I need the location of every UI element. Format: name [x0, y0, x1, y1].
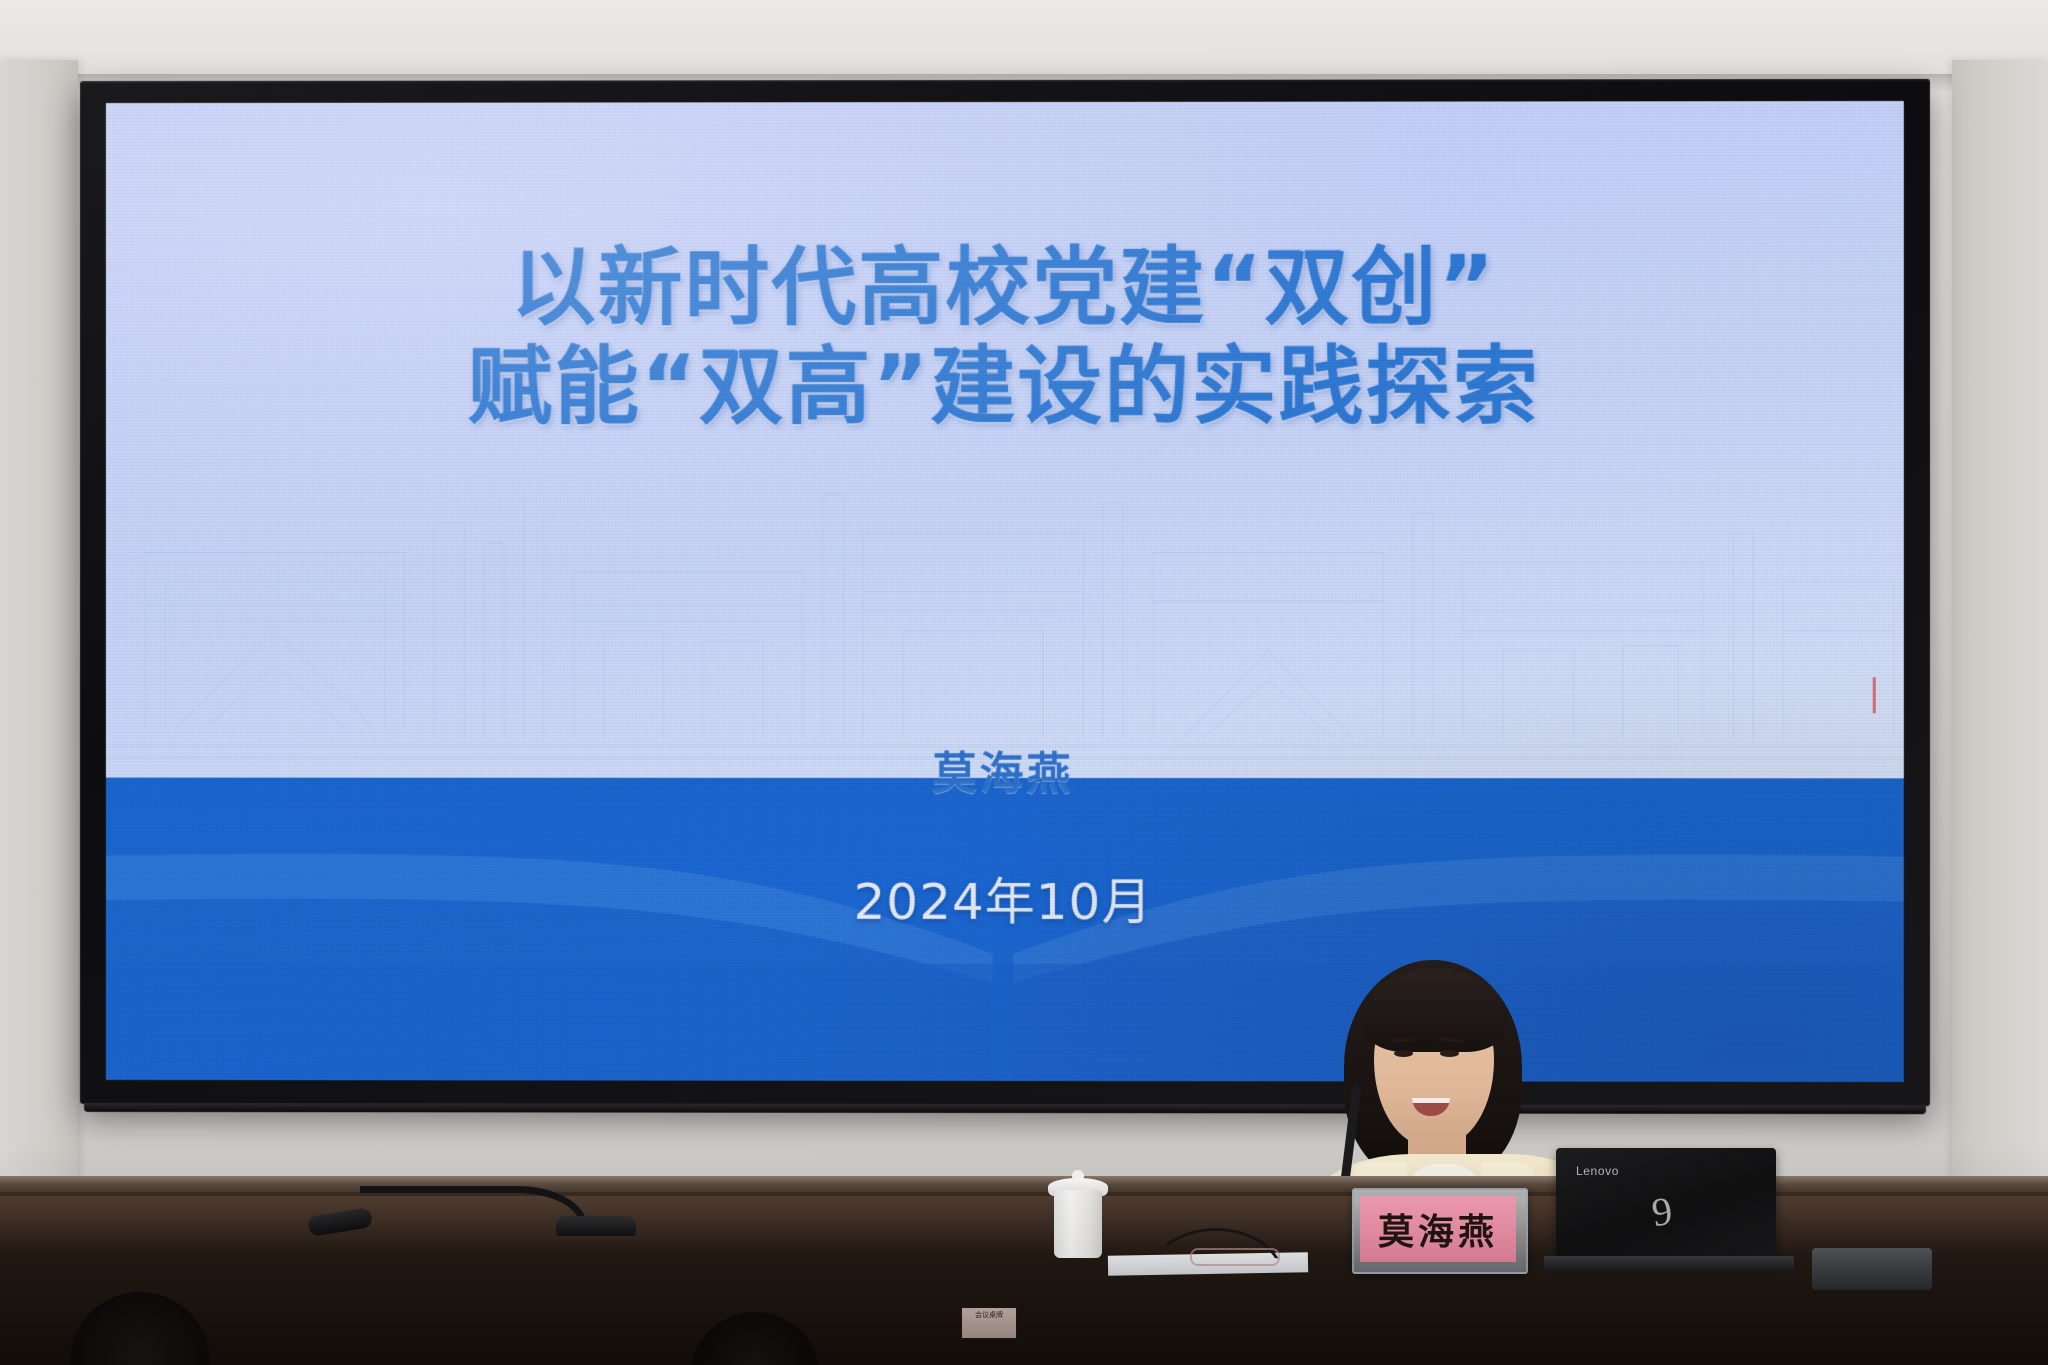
wall-upper-band — [0, 0, 2048, 78]
slide-title-block: 以新时代高校党建“双创” 赋能“双高”建设的实践探索 — [467, 240, 1540, 438]
desk-small-label: 会议桌牌 — [960, 1306, 1018, 1340]
tea-cup — [1054, 1190, 1102, 1258]
slide-date: 2024年10月 — [106, 861, 1904, 934]
gooseneck-microphone — [360, 1186, 590, 1230]
led-display-surface: 以新时代高校党建“双创” 赋能“双高”建设的实践探索 莫海燕 2024年10月 — [106, 101, 1904, 1082]
laptop-brand-label: Lenovo — [1576, 1164, 1619, 1178]
slide-title-line-2: 赋能“双高”建设的实践探索 — [467, 338, 1540, 437]
nameplate-text: 莫海燕 — [1378, 1203, 1498, 1255]
wall-right-pilaster — [1952, 60, 2048, 1180]
presentation-room-photo: 以新时代高校党建“双创” 赋能“双高”建设的实践探索 莫海燕 2024年10月 — [0, 0, 2048, 1365]
slide-title-line-1: 以新时代高校党建“双创” — [467, 240, 1540, 339]
speaker-nameplate: 莫海燕 — [1360, 1196, 1516, 1262]
laptop-base — [1544, 1256, 1794, 1272]
microphone-base — [556, 1216, 636, 1236]
microphone-gooseneck-arm — [360, 1186, 587, 1233]
screen-edge-marker — [1873, 677, 1876, 713]
slide-presenter-name: 莫海燕 — [106, 738, 1904, 803]
led-display-bezel: 以新时代高校党建“双创” 赋能“双高”建设的实践探索 莫海燕 2024年10月 — [80, 79, 1930, 1106]
eyeglasses — [1190, 1248, 1280, 1266]
laptop-marker-number: 9 — [1649, 1187, 1675, 1236]
laptop-lid: Lenovo 9 — [1556, 1148, 1776, 1260]
desk-device-right — [1812, 1248, 1932, 1290]
wall-left-pilaster — [0, 60, 78, 1180]
slide-content: 以新时代高校党建“双创” 赋能“双高”建设的实践探索 莫海燕 2024年10月 — [106, 101, 1904, 1082]
speaker-eye-right — [1440, 1050, 1459, 1057]
speaker-eye-left — [1394, 1050, 1413, 1057]
